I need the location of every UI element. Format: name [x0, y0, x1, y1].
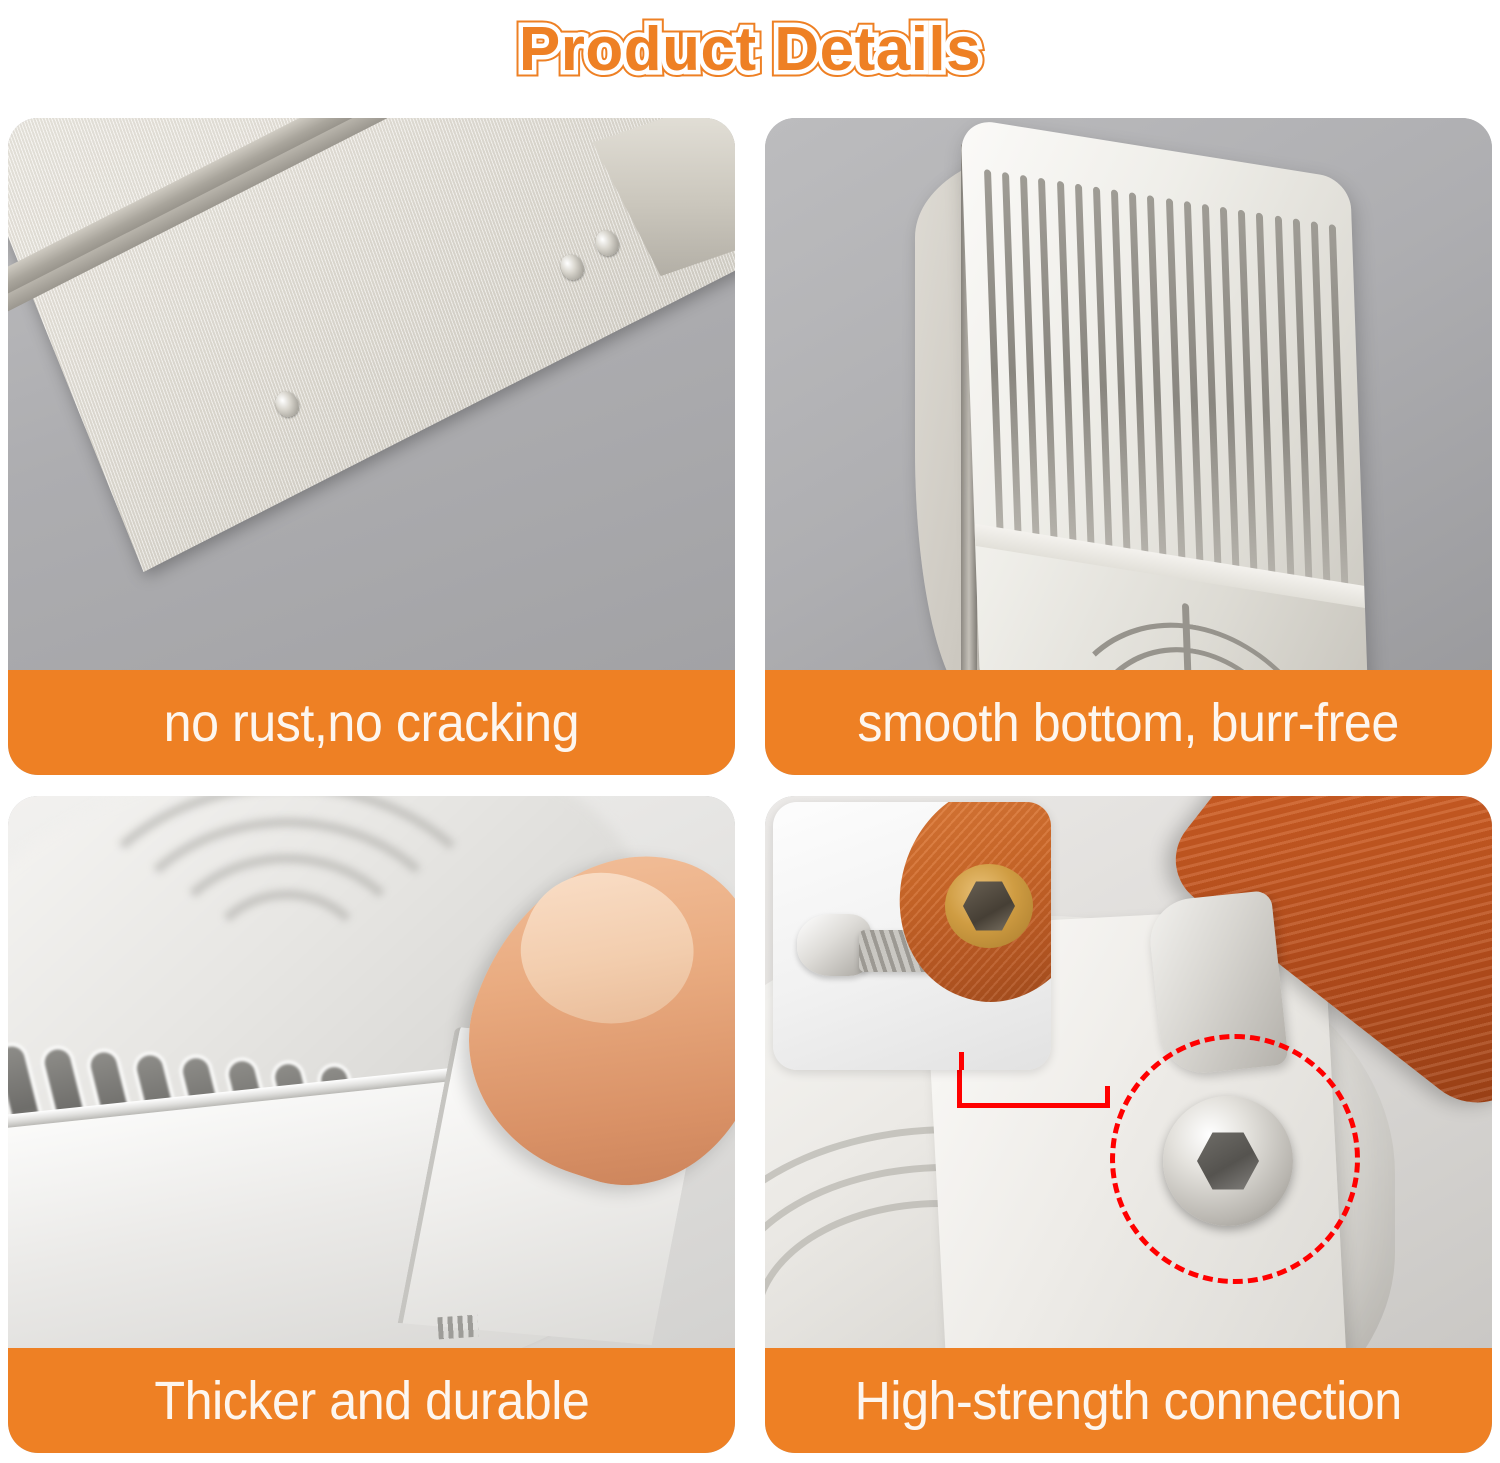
caption-text: High-strength connection: [855, 1370, 1402, 1432]
detail-card-high-strength[interactable]: High-strength connection: [765, 796, 1492, 1453]
detail-card-smooth-bottom[interactable]: smooth bottom, burr-free: [765, 118, 1492, 775]
page-title: Product Details: [519, 19, 981, 81]
turner-slotted-face: [960, 118, 1369, 670]
detail-card-thicker[interactable]: Thicker and durable: [8, 796, 735, 1453]
photo-stainless-plate-edge: [8, 118, 735, 670]
photo-blade-thickness: [8, 796, 735, 1348]
turner-slot-group: [984, 169, 1348, 587]
photo-slotted-turner: [765, 118, 1492, 670]
caption-bar-no-rust: no rust,no cracking: [8, 670, 735, 775]
inset-photo-screw-and-socket: [773, 802, 1051, 1070]
callout-leader-line: [957, 1103, 1109, 1108]
callout-leader-line: [959, 1052, 964, 1070]
caption-text: Thicker and durable: [154, 1370, 589, 1432]
blade-notch: [437, 1315, 478, 1340]
caption-bar-smooth-bottom: smooth bottom, burr-free: [765, 670, 1492, 775]
photo-handle-connection: [765, 796, 1492, 1348]
caption-text: no rust,no cracking: [164, 692, 579, 754]
callout-dashed-circle: [1110, 1034, 1360, 1284]
product-detail-grid: no rust,no cracking smooth bottom, burr-…: [8, 118, 1492, 1453]
callout-leader-tick: [1105, 1086, 1110, 1108]
caption-bar-high-strength: High-strength connection: [765, 1348, 1492, 1453]
caption-text: smooth bottom, burr-free: [858, 692, 1399, 754]
caption-bar-thicker: Thicker and durable: [8, 1348, 735, 1453]
page-header: Product Details Product Details: [0, 0, 1500, 100]
detail-card-no-rust[interactable]: no rust,no cracking: [8, 118, 735, 775]
